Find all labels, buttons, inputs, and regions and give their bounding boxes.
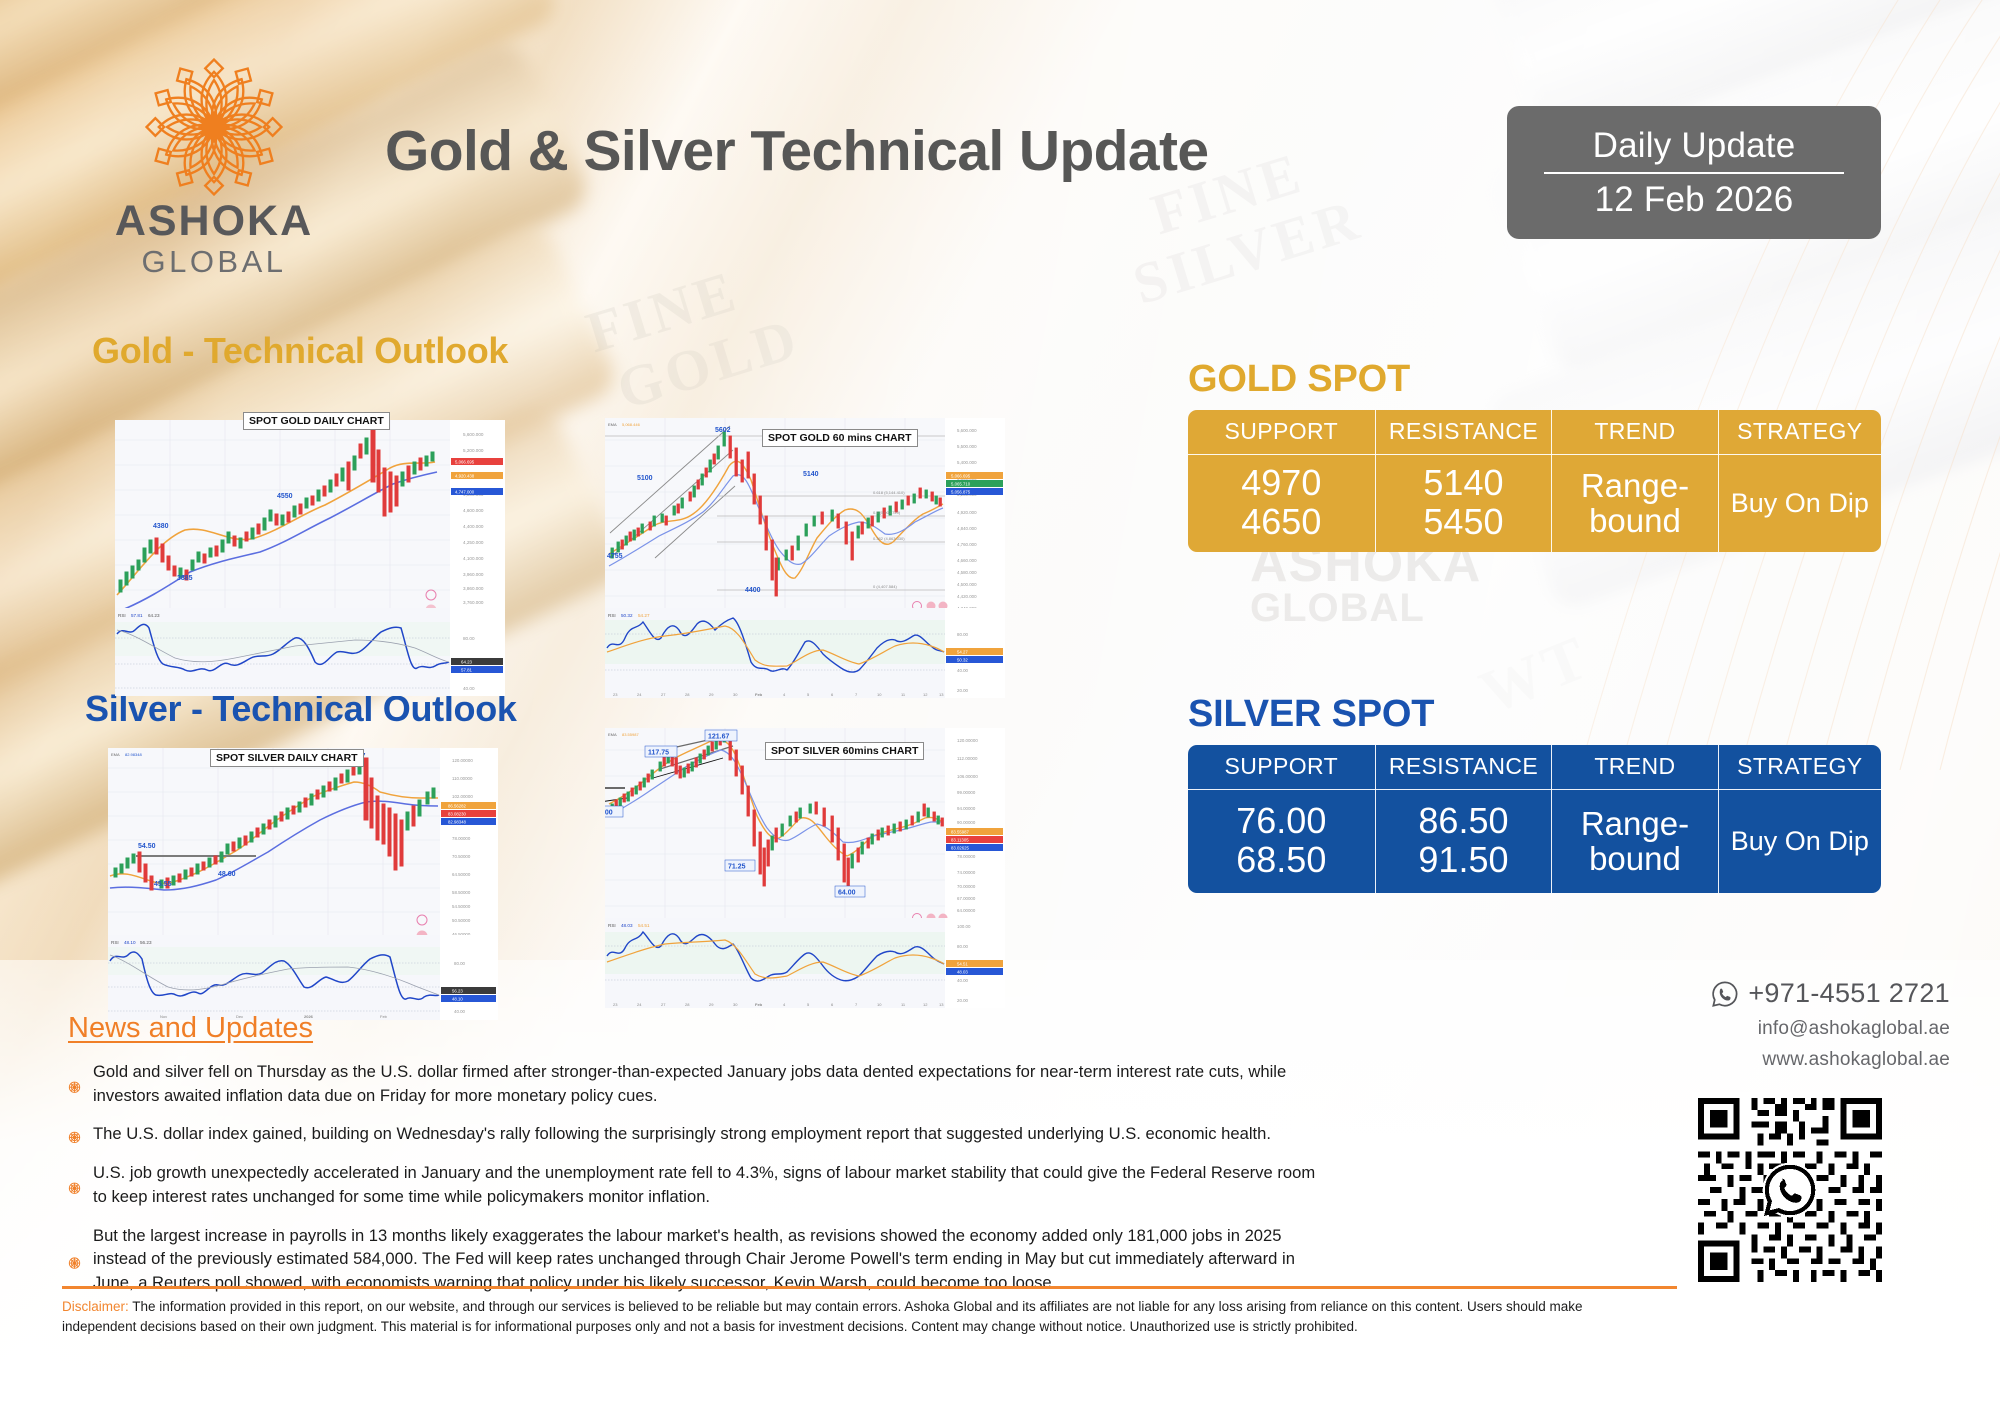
svg-text:40.00: 40.00 [957,668,969,673]
svg-text:64.23: 64.23 [148,613,160,618]
svg-text:4,400.000: 4,400.000 [463,524,484,529]
website-url[interactable]: www.ashokaglobal.ae [1610,1049,1950,1071]
svg-text:24: 24 [637,1002,642,1007]
svg-text:5140: 5140 [803,471,819,478]
silver-support-values: 76.0068.50 [1188,789,1375,893]
svg-text:80.00: 80.00 [957,632,969,637]
svg-text:5,056.875: 5,056.875 [951,490,971,495]
svg-text:4,840.000: 4,840.000 [957,526,977,531]
svg-text:RSI: RSI [118,613,126,618]
mandala-bullet-icon [68,1168,81,1208]
svg-text:4380: 4380 [153,523,169,530]
disclaimer-text: Disclaimer: The information provided in … [62,1297,1622,1336]
disclaimer-divider [62,1286,1677,1289]
svg-text:40.00: 40.00 [957,978,969,983]
list-item: Gold and silver fell on Thursday as the … [68,1060,1318,1107]
svg-text:0 (4,407.584): 0 (4,407.584) [873,584,897,589]
brand-subtitle: GLOBAL [78,244,350,280]
svg-text:54.51: 54.51 [957,962,968,967]
svg-text:83.55987: 83.55987 [951,830,970,835]
svg-text:27: 27 [661,692,666,697]
svg-text:48.60: 48.60 [218,871,236,878]
svg-text:83.55987: 83.55987 [622,732,639,737]
svg-text:4,747.000: 4,747.000 [455,490,475,495]
svg-text:48.10: 48.10 [124,940,136,945]
svg-text:4,920.438: 4,920.438 [455,474,475,479]
table-row: 76.0068.50 86.5091.50 Range-bound Buy On… [1188,789,1881,893]
svg-text:80.00: 80.00 [454,961,466,966]
gold-trend-value: Range-bound [1552,454,1718,552]
phone-number: +971-4551 2721 [1748,978,1950,1009]
svg-text:4,420.000: 4,420.000 [957,594,977,599]
svg-text:80.00: 80.00 [957,944,969,949]
svg-text:5,600.000: 5,600.000 [463,432,484,437]
disclaimer-label: Disclaimer: [62,1299,129,1314]
svg-text:30: 30 [733,1002,738,1007]
svg-text:12: 12 [923,692,928,697]
svg-text:54.27: 54.27 [638,613,650,618]
svg-text:83.11305: 83.11305 [951,838,969,843]
svg-text:57.81: 57.81 [461,668,473,673]
svg-text:4755: 4755 [607,553,623,560]
silver-spot-heading: SILVER SPOT [1188,693,1434,736]
brand-name: ASHOKA [78,200,350,244]
svg-text:120.00000: 120.00000 [957,738,978,743]
svg-text:83.02625: 83.02625 [951,846,970,851]
column-header-trend: TREND [1552,410,1718,454]
svg-text:0.5 (5,003.720): 0.5 (5,003.720) [873,510,901,515]
svg-text:58.50000: 58.50000 [452,890,471,895]
svg-text:50.50000: 50.50000 [452,918,471,923]
table-header-row: SUPPORT RESISTANCE TREND STRATEGY [1188,410,1881,454]
svg-text:120.00000: 120.00000 [452,758,473,763]
column-header-strategy: STRATEGY [1718,410,1881,454]
svg-text:4,760.000: 4,760.000 [957,542,977,547]
svg-text:4,500.000: 4,500.000 [957,582,977,587]
list-item: U.S. job growth unexpectedly accelerated… [68,1161,1318,1208]
svg-text:RSI: RSI [608,923,616,928]
chart-title-silver-60min: SPOT SILVER 60mins CHART [765,742,924,760]
qr-code-whatsapp[interactable] [1692,1092,1888,1288]
svg-text:4,580.000: 4,580.000 [957,570,977,575]
svg-text:1.00: 1.00 [605,810,613,817]
mandala-flower-icon [145,58,283,196]
svg-text:13: 13 [939,1002,944,1007]
svg-text:54.51: 54.51 [638,923,650,928]
chart-silver-daily-rsi[interactable]: RSI48.1056.23 80.0040.00 56.2348.10 NovD… [108,935,498,1020]
svg-text:29: 29 [709,692,714,697]
svg-text:78.00000: 78.00000 [957,854,976,859]
list-item: But the largest increase in payrolls in … [68,1224,1318,1295]
chart-title-gold-daily: SPOT GOLD DAILY CHART [243,412,390,430]
svg-text:5,400.000: 5,400.000 [957,460,977,465]
news-list: Gold and silver fell on Thursday as the … [68,1060,1318,1310]
svg-text:102.00000: 102.00000 [452,794,473,799]
svg-text:4400: 4400 [745,587,761,594]
svg-text:54.50000: 54.50000 [452,904,471,909]
news-text: U.S. job growth unexpectedly accelerated… [93,1161,1318,1208]
disclaimer-body: The information provided in this report,… [62,1299,1583,1334]
chart-title-gold-60min: SPOT GOLD 60 mins CHART [762,429,918,447]
badge-divider [1544,172,1844,174]
svg-text:112.00000: 112.00000 [957,756,978,761]
svg-text:48.10: 48.10 [452,997,463,1002]
svg-text:78.00000: 78.00000 [452,836,471,841]
svg-text:13: 13 [939,692,944,697]
svg-text:EMA: EMA [111,752,120,757]
svg-text:12: 12 [923,1002,928,1007]
gold-spot-table: SUPPORT RESISTANCE TREND STRATEGY 497046… [1188,410,1881,552]
gold-strategy-value: Buy On Dip [1718,454,1881,552]
svg-text:100.00: 100.00 [957,924,971,929]
gold-resistance-values: 51405450 [1375,454,1552,552]
svg-text:4,600.000: 4,600.000 [463,508,484,513]
svg-text:3,960.000: 3,960.000 [463,572,484,577]
svg-text:64.50000: 64.50000 [452,872,471,877]
svg-text:54.50: 54.50 [138,843,156,850]
svg-text:64.00: 64.00 [838,890,856,897]
svg-text:29: 29 [709,1002,714,1007]
svg-text:64.23: 64.23 [461,660,473,665]
svg-text:28: 28 [685,1002,690,1007]
svg-text:5,065.710: 5,065.710 [951,482,971,487]
whatsapp-icon [1711,980,1739,1008]
svg-text:5,500.000: 5,500.000 [957,444,977,449]
svg-text:EMA: EMA [608,732,617,737]
svg-text:83.08230: 83.08230 [448,812,467,817]
svg-text:5,068.446: 5,068.446 [622,422,641,427]
news-text: But the largest increase in payrolls in … [93,1224,1318,1295]
svg-text:99.00000: 99.00000 [957,790,976,795]
silver-trend-value: Range-bound [1552,789,1718,893]
svg-text:70.50000: 70.50000 [452,854,471,859]
chart-silver-60min-rsi[interactable]: RSI48.0354.51 100.0080.0040.0020.00 54.5… [605,918,1005,1008]
news-heading: News and Updates [68,1012,313,1045]
svg-text:5100: 5100 [637,475,653,482]
svg-text:23: 23 [613,1002,618,1007]
svg-text:80.00: 80.00 [463,636,475,641]
svg-text:RSI: RSI [111,940,119,945]
chart-title-silver-daily: SPOT SILVER DAILY CHART [210,749,364,767]
chart-spot-silver-daily[interactable]: 121.6786.5582.50 54.5045.5548.60 EMA 82.… [108,748,498,951]
svg-text:0.618 (5,144.410): 0.618 (5,144.410) [873,490,905,495]
mandala-bullet-icon [68,1129,81,1146]
svg-text:74.00000: 74.00000 [957,870,976,875]
svg-text:48.03: 48.03 [621,923,633,928]
chart-spot-gold-daily[interactable]: 4380 3885 4550 4920 4745 5,600.0005,200.… [115,420,505,625]
silver-resistance-values: 86.5091.50 [1375,789,1552,893]
svg-text:28: 28 [685,692,690,697]
chart-spot-gold-60min[interactable]: 1 (5,599.672)0.618 (5,144.410) 0.5 (5,00… [605,418,1005,616]
svg-text:4,920.000: 4,920.000 [957,510,977,515]
svg-text:56.23: 56.23 [140,940,152,945]
svg-text:82.98348: 82.98348 [448,820,467,825]
svg-text:30: 30 [733,692,738,697]
svg-text:24: 24 [637,692,642,697]
svg-text:Feb: Feb [755,692,763,697]
svg-text:0.382 (4,863.030): 0.382 (4,863.030) [873,536,905,541]
svg-text:64.00000: 64.00000 [957,908,976,913]
column-header-resistance: RESISTANCE [1375,745,1552,789]
column-header-support: SUPPORT [1188,745,1375,789]
svg-text:57.81: 57.81 [131,613,143,618]
svg-text:23: 23 [613,692,618,697]
svg-text:106.00000: 106.00000 [957,774,978,779]
list-item: The U.S. dollar index gained, building o… [68,1122,1318,1146]
contact-block: +971-4551 2721 info@ashokaglobal.ae www.… [1610,978,1950,1071]
svg-text:110.00000: 110.00000 [452,776,473,781]
badge-label: Daily Update [1593,126,1796,166]
svg-text:3,760.000: 3,760.000 [463,600,484,605]
silver-spot-table: SUPPORT RESISTANCE TREND STRATEGY 76.006… [1188,745,1881,893]
silver-strategy-value: Buy On Dip [1718,789,1881,893]
svg-text:121.67: 121.67 [708,734,730,741]
brand-logo: ASHOKA GLOBAL [78,58,350,280]
svg-text:5,066.695: 5,066.695 [455,460,475,465]
svg-text:50.32: 50.32 [957,658,968,663]
svg-text:5602: 5602 [715,427,731,434]
svg-text:EMA: EMA [608,422,617,427]
table-row: 49704650 51405450 Range-bound Buy On Dip [1188,454,1881,552]
svg-text:67.00000: 67.00000 [957,896,976,901]
svg-text:10: 10 [877,1002,882,1007]
svg-text:50.32: 50.32 [621,613,633,618]
svg-text:4,250.000: 4,250.000 [463,540,484,545]
svg-text:Feb: Feb [380,1014,388,1019]
svg-text:94.00000: 94.00000 [957,806,976,811]
svg-text:RSI: RSI [608,613,616,618]
svg-text:71.25: 71.25 [728,864,746,871]
svg-text:82.98348: 82.98348 [125,752,142,757]
news-text: The U.S. dollar index gained, building o… [93,1122,1271,1146]
svg-text:48.03: 48.03 [957,970,968,975]
gold-spot-heading: GOLD SPOT [1188,358,1410,401]
svg-text:27: 27 [661,1002,666,1007]
column-header-trend: TREND [1552,745,1718,789]
svg-text:40.00: 40.00 [454,1009,466,1014]
table-header-row: SUPPORT RESISTANCE TREND STRATEGY [1188,745,1881,789]
svg-text:20.00: 20.00 [957,688,969,693]
column-header-resistance: RESISTANCE [1375,410,1552,454]
chart-gold-daily-rsi[interactable]: RSI57.8164.23 80.0040.00 64.2357.81 [115,608,505,696]
svg-text:40.00: 40.00 [463,686,475,691]
email-address[interactable]: info@ashokaglobal.ae [1610,1018,1950,1040]
svg-text:86.56282: 86.56282 [448,804,467,809]
svg-text:5,600.000: 5,600.000 [957,428,977,433]
gold-outlook-heading: Gold - Technical Outlook [92,330,508,372]
mandala-bullet-icon [68,1067,81,1107]
column-header-support: SUPPORT [1188,410,1375,454]
daily-update-badge: Daily Update 12 Feb 2026 [1507,106,1881,239]
badge-date: 12 Feb 2026 [1595,180,1794,220]
news-text: Gold and silver fell on Thursday as the … [93,1060,1318,1107]
svg-text:117.75: 117.75 [648,750,669,757]
column-header-strategy: STRATEGY [1718,745,1881,789]
svg-text:Feb: Feb [755,1002,763,1007]
phone-row[interactable]: +971-4551 2721 [1610,978,1950,1009]
svg-text:20.00: 20.00 [957,998,969,1003]
svg-text:3885: 3885 [177,575,193,582]
svg-text:45.55: 45.55 [154,881,172,888]
svg-text:5,066.695: 5,066.695 [951,474,971,479]
svg-text:90.00000: 90.00000 [957,820,976,825]
svg-text:54.27: 54.27 [957,650,968,655]
chart-gold-60min-rsi[interactable]: RSI50.3254.27 80.0040.0020.00 54.2750.32… [605,608,1005,698]
svg-text:4,100.000: 4,100.000 [463,556,484,561]
svg-text:4550: 4550 [277,493,293,500]
svg-text:5,200.000: 5,200.000 [463,448,484,453]
gold-support-values: 49704650 [1188,454,1375,552]
svg-text:70.00000: 70.00000 [957,884,976,889]
svg-text:3,860.000: 3,860.000 [463,586,484,591]
page-title: Gold & Silver Technical Update [385,118,1285,184]
svg-text:4,660.000: 4,660.000 [957,558,977,563]
svg-text:56.23: 56.23 [452,989,463,994]
svg-text:10: 10 [877,692,882,697]
